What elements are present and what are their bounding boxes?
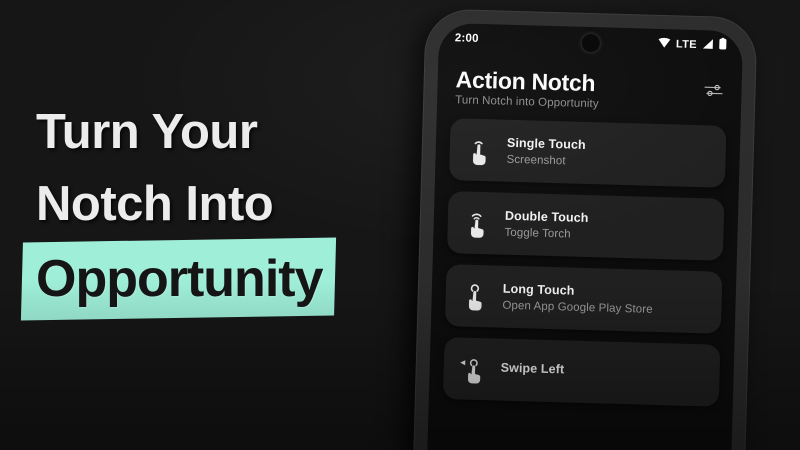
wifi-icon (658, 35, 671, 53)
action-subtitle (500, 379, 563, 381)
promo-banner: Turn Your Notch Into Opportunity 2:00 (0, 0, 800, 450)
action-list: Single Touch Screenshot Double To (429, 110, 741, 407)
headline-line-2: Notch Into (36, 168, 426, 240)
action-title: Swipe Left (501, 361, 565, 377)
action-card-text: Double Touch Toggle Torch (504, 209, 588, 241)
action-title: Long Touch (503, 282, 654, 300)
app-header-text: Action Notch Turn Notch into Opportunity (455, 67, 600, 110)
swipe-left-hand-icon (457, 353, 488, 386)
single-tap-hand-icon (463, 134, 494, 167)
app-title: Action Notch (455, 67, 599, 95)
action-card-text: Single Touch Screenshot (506, 136, 586, 168)
action-card-long-touch[interactable]: Long Touch Open App Google Play Store (445, 264, 723, 334)
action-card-text: Long Touch Open App Google Play Store (502, 282, 653, 316)
app-header: Action Notch Turn Notch into Opportunity (437, 53, 742, 119)
status-time: 2:00 (455, 32, 479, 45)
headline-highlight: Opportunity (36, 246, 323, 312)
tune-sliders-icon[interactable] (703, 82, 724, 104)
long-press-hand-icon (459, 280, 490, 313)
network-label: LTE (676, 38, 697, 51)
status-icons: LTE (658, 35, 727, 55)
phone-mockup: 2:00 LTE (414, 9, 757, 450)
headline-line-1: Turn Your (36, 96, 426, 168)
phone-screen: 2:00 LTE (427, 23, 744, 450)
action-subtitle: Toggle Torch (504, 227, 588, 241)
action-card-single-touch[interactable]: Single Touch Screenshot (449, 118, 727, 188)
action-title: Double Touch (505, 209, 589, 225)
action-card-double-touch[interactable]: Double Touch Toggle Torch (447, 191, 725, 261)
app-subtitle: Turn Notch into Opportunity (455, 94, 599, 110)
action-subtitle: Open App Google Play Store (502, 300, 653, 316)
signal-bars-icon (702, 36, 714, 54)
action-card-swipe-left[interactable]: Swipe Left (443, 337, 721, 407)
double-tap-hand-icon (461, 207, 492, 240)
action-title: Single Touch (507, 136, 586, 152)
headline-highlight-word: Opportunity (36, 246, 323, 312)
headline-block: Turn Your Notch Into Opportunity (36, 96, 426, 312)
action-card-text: Swipe Left (500, 361, 564, 381)
punch-hole-camera-icon (582, 34, 600, 52)
battery-icon (719, 37, 727, 55)
action-subtitle: Screenshot (506, 154, 585, 168)
